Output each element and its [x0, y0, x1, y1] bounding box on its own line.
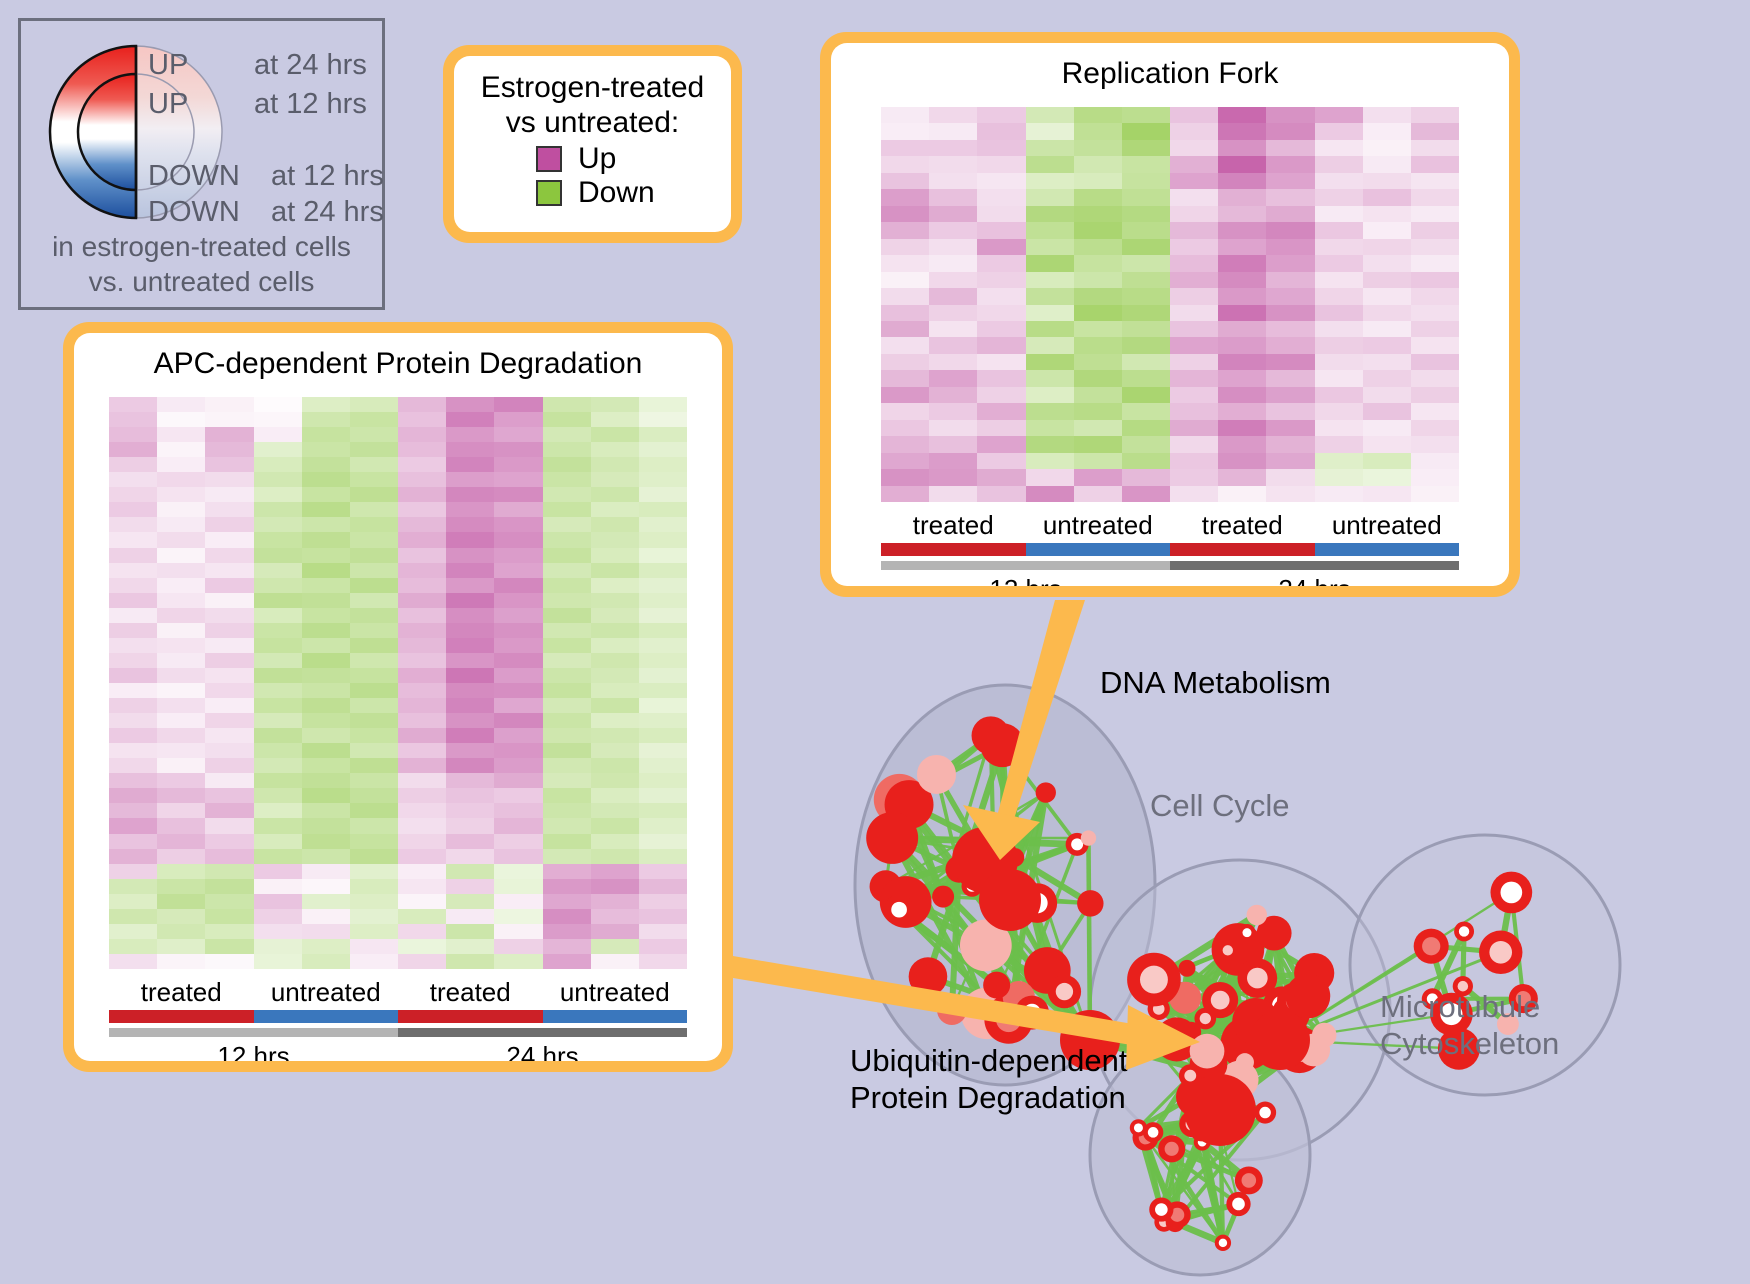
key-footer: in estrogen-treated cells vs. untreated … [21, 229, 382, 299]
network-node [866, 812, 918, 864]
network-node [1179, 960, 1196, 977]
replication-fork-title: Replication Fork [831, 43, 1509, 91]
group-label-treated-12: treated [881, 510, 1026, 540]
bar-untreated-12 [1026, 543, 1171, 556]
apc-bar-treated-12 [109, 1010, 254, 1023]
key-label-up-12: UP [148, 90, 188, 119]
legend-title-line1: Estrogen-treated [454, 70, 731, 105]
network-node [1312, 1023, 1337, 1048]
network-graph [780, 610, 1750, 1279]
network-node [980, 723, 1024, 767]
network-node [1081, 830, 1096, 845]
cluster-label-ubiquitin-line2: Protein Degradation [850, 1079, 1128, 1116]
apc-degradation-inner: APC-dependent Protein Degradation treate… [74, 333, 722, 1061]
network-node [1250, 1010, 1310, 1070]
network-node [1132, 1021, 1148, 1037]
legend-label-up: Up [578, 144, 616, 174]
apc-group-label-untreated-12: untreated [254, 977, 399, 1007]
bar-time-12 [881, 561, 1170, 570]
replication-fork-group-labels: treated untreated treated untreated [881, 510, 1459, 540]
replication-fork-treatment-bar [881, 543, 1459, 556]
legend-item-up: Up [536, 144, 731, 174]
time-label-12: 12 hrs [881, 570, 1170, 586]
network-node [909, 957, 948, 996]
network-node [1247, 905, 1267, 925]
key-time-up-24: at 24 hrs [254, 51, 367, 80]
legend-title-line2: vs untreated: [454, 105, 731, 140]
bar-treated-24 [1170, 543, 1315, 556]
legend-swatch-down-icon [536, 180, 562, 206]
legend-item-down: Down [536, 178, 731, 208]
apc-bar-untreated-12 [254, 1010, 399, 1023]
apc-degradation-title: APC-dependent Protein Degradation [74, 333, 722, 381]
apc-degradation-heatmap [109, 397, 687, 969]
key-label-down-12: DOWN [148, 162, 240, 191]
key-label-up-24: UP [148, 51, 188, 80]
bar-untreated-24 [1315, 543, 1460, 556]
apc-degradation-panel: APC-dependent Protein Degradation treate… [63, 322, 733, 1072]
apc-time-labels: 12 hrs 24 hrs [109, 1037, 687, 1061]
apc-time-label-24: 24 hrs [398, 1037, 687, 1061]
apc-bar-treated-24 [398, 1010, 543, 1023]
replication-fork-time-bar [881, 561, 1459, 570]
legend-swatch-up-icon [536, 146, 562, 172]
figure-root: UP at 24 hrs UP at 12 hrs DOWN at 12 hrs… [0, 0, 1750, 1279]
apc-treatment-bar [109, 1010, 687, 1023]
network-node [1236, 1053, 1254, 1071]
key-time-down-24: at 24 hrs [271, 198, 384, 227]
key-time-down-12: at 12 hrs [271, 162, 384, 191]
cluster-label-microtubule-cytoskeleton: Microtubule Cytoskeleton [1380, 988, 1559, 1062]
time-label-24: 24 hrs [1170, 570, 1459, 586]
network-node [1036, 782, 1056, 802]
legend-label-down: Down [578, 178, 655, 208]
network-node [937, 995, 967, 1025]
expression-ring-key: UP at 24 hrs UP at 12 hrs DOWN at 12 hrs… [18, 18, 385, 310]
apc-time-bar [109, 1028, 687, 1037]
group-label-treated-24: treated [1170, 510, 1315, 540]
network-node [983, 972, 1010, 999]
network-node [1184, 1074, 1256, 1146]
ring-key-diagram [47, 43, 225, 221]
replication-fork-time-labels: 12 hrs 24 hrs [881, 570, 1459, 586]
replication-fork-heatmap [881, 107, 1459, 502]
network-node [1285, 974, 1330, 1019]
network-node [932, 886, 954, 908]
key-footer-line2: vs. untreated cells [21, 264, 382, 299]
replication-fork-inner: Replication Fork treated untreated treat… [831, 43, 1509, 586]
apc-bar-time-12 [109, 1028, 398, 1037]
replication-fork-panel: Replication Fork treated untreated treat… [820, 32, 1520, 597]
group-label-untreated-24: untreated [1315, 510, 1460, 540]
group-label-untreated-12: untreated [1026, 510, 1171, 540]
cluster-label-microtubule-line1: Microtubule [1380, 988, 1559, 1025]
apc-bar-time-24 [398, 1028, 687, 1037]
apc-group-label-treated-24: treated [398, 977, 543, 1007]
cluster-label-dna-metabolism: DNA Metabolism [1100, 665, 1331, 701]
apc-time-label-12: 12 hrs [109, 1037, 398, 1061]
network-node [979, 869, 1041, 931]
updown-legend-panel: Estrogen-treated vs untreated: Up Down [443, 45, 742, 243]
bar-treated-12 [881, 543, 1026, 556]
key-time-up-12: at 12 hrs [254, 90, 367, 119]
legend-title: Estrogen-treated vs untreated: [454, 56, 731, 140]
network-node [1190, 1034, 1225, 1069]
network-node [1077, 890, 1103, 916]
apc-bar-untreated-24 [543, 1010, 688, 1023]
key-label-down-24: DOWN [148, 198, 240, 227]
pathway-network-diagram: DNA Metabolism Cell Cycle Microtubule Cy… [780, 610, 1750, 1279]
apc-group-labels: treated untreated treated untreated [109, 977, 687, 1007]
cluster-label-ubiquitin-line1: Ubiquitin-dependent [850, 1042, 1128, 1079]
cluster-label-cell-cycle: Cell Cycle [1150, 788, 1290, 824]
legend-panel-inner: Estrogen-treated vs untreated: Up Down [454, 56, 731, 232]
cluster-label-microtubule-line2: Cytoskeleton [1380, 1025, 1559, 1062]
apc-group-label-untreated-24: untreated [543, 977, 688, 1007]
apc-group-label-treated-12: treated [109, 977, 254, 1007]
cluster-label-ubiquitin-degradation: Ubiquitin-dependent Protein Degradation [850, 1042, 1128, 1116]
key-footer-line1: in estrogen-treated cells [21, 229, 382, 264]
network-node [917, 755, 956, 794]
bar-time-24 [1170, 561, 1459, 570]
